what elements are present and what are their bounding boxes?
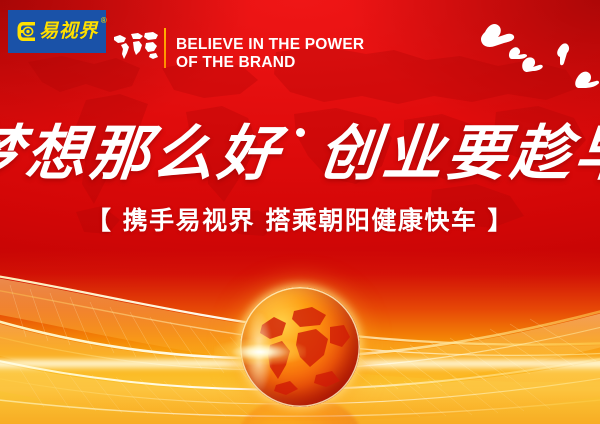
headline-part-2: 创业要趁早 bbox=[315, 124, 600, 184]
english-tagline-line2: OF THE BRAND bbox=[176, 54, 364, 72]
registered-trademark-icon: ® bbox=[101, 17, 107, 25]
flying-doves-icon bbox=[455, 18, 600, 98]
vertical-divider-icon bbox=[164, 28, 166, 68]
brand-logo[interactable]: 易视界 ® bbox=[8, 10, 106, 53]
subtitle-text: 【 携手易视界 搭乘朝阳健康快车 】 bbox=[0, 206, 600, 236]
lens-flare-icon bbox=[214, 339, 306, 365]
english-tagline: BELIEVE IN THE POWER OF THE BRAND bbox=[176, 36, 364, 73]
globe-icon bbox=[240, 287, 360, 407]
brand-logo-text: 易视界 bbox=[39, 22, 98, 41]
globe-reflection-icon bbox=[240, 397, 360, 424]
dot-separator-icon bbox=[296, 128, 305, 137]
light-rays-icon bbox=[0, 249, 600, 424]
main-headline: 梦想那么好 创业要趁早 bbox=[0, 118, 600, 190]
promo-banner: 易视界 ® BELIEVE IN THE POWER OF THE BRAND … bbox=[0, 0, 600, 424]
eye-e-monogram-icon bbox=[16, 20, 37, 43]
english-tagline-line1: BELIEVE IN THE POWER bbox=[176, 36, 364, 54]
world-map-icon bbox=[112, 30, 160, 62]
headline-part-1: 梦想那么好 bbox=[0, 124, 285, 184]
